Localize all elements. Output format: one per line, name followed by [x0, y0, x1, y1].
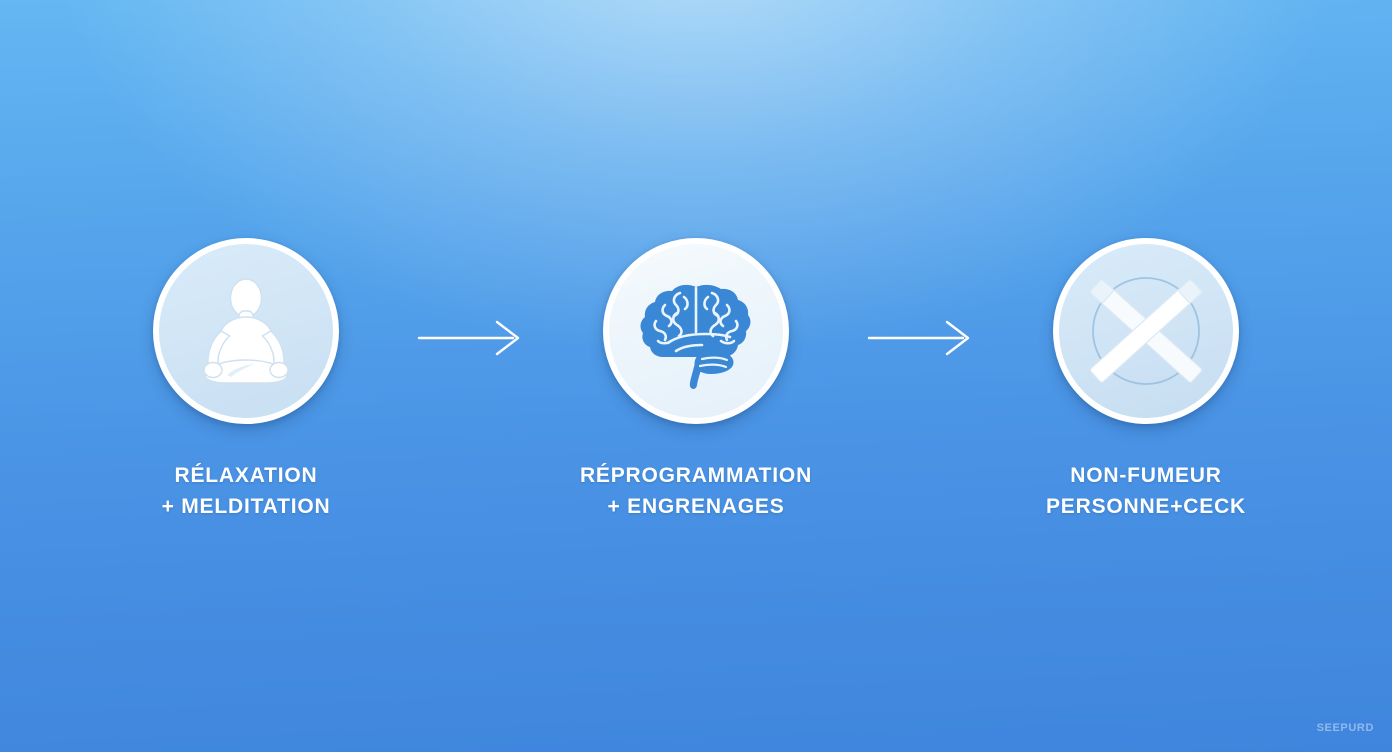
meditating-person-icon	[180, 265, 312, 397]
flow-step-non-fumeur: NON-FUMEUR PERSONNE+CECK	[996, 238, 1296, 522]
watermark: Seepurd	[1317, 718, 1374, 736]
flow-step-relaxation: RÉLAXATION + MELDITATION	[96, 238, 396, 522]
no-smoking-crossed-cigarettes-icon	[1071, 256, 1221, 406]
arrow-right-icon	[867, 318, 975, 358]
icon-circle-non-fumeur	[1053, 238, 1239, 424]
arrow-right-icon	[417, 318, 525, 358]
flow-step-label-reprogrammation: RÉPROGRAMMATION + ENGRENAGES	[580, 460, 812, 522]
label-line-2: + MELDITATION	[162, 491, 331, 522]
process-flow: RÉLAXATION + MELDITATION	[0, 238, 1392, 528]
flow-arrow-1	[396, 238, 546, 358]
label-line-1: RÉLAXATION	[175, 464, 318, 487]
icon-circle-relaxation	[153, 238, 339, 424]
flow-step-reprogrammation: RÉPROGRAMMATION + ENGRENAGES	[546, 238, 846, 522]
label-line-2: PERSONNE+CECK	[1046, 491, 1246, 522]
icon-circle-reprogrammation	[603, 238, 789, 424]
label-line-1: RÉPROGRAMMATION	[580, 464, 812, 487]
brain-icon	[632, 267, 760, 395]
infographic-canvas: RÉLAXATION + MELDITATION	[0, 0, 1392, 752]
flow-step-label-relaxation: RÉLAXATION + MELDITATION	[162, 460, 331, 522]
label-line-2: + ENGRENAGES	[580, 491, 812, 522]
label-line-1: NON-FUMEUR	[1070, 464, 1221, 487]
flow-arrow-2	[846, 238, 996, 358]
flow-step-label-non-fumeur: NON-FUMEUR PERSONNE+CECK	[1046, 460, 1246, 522]
